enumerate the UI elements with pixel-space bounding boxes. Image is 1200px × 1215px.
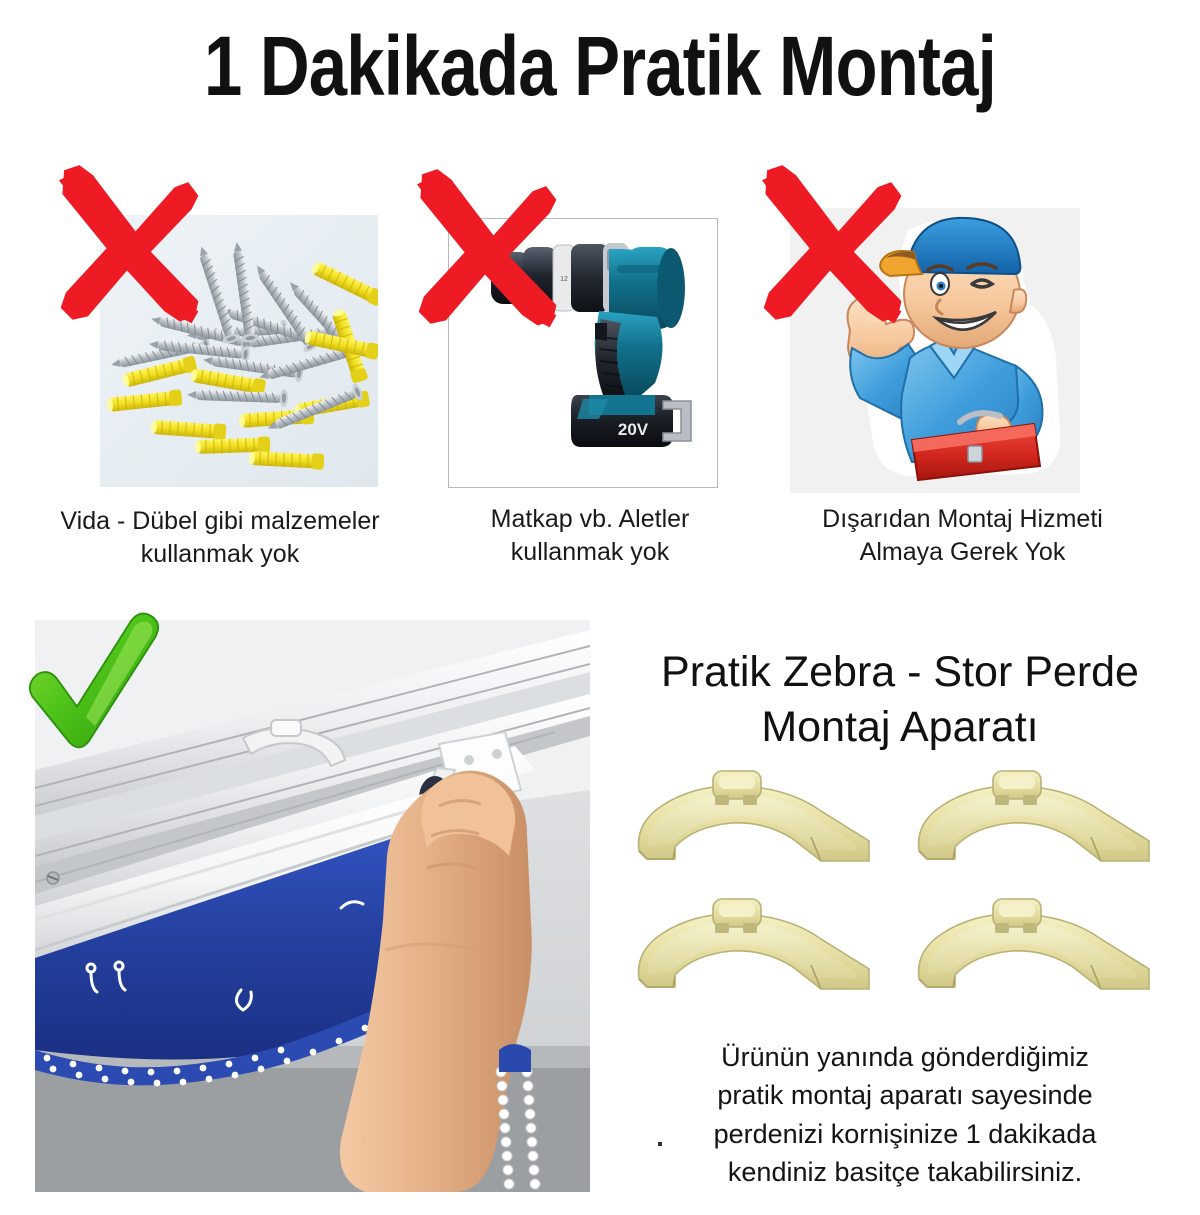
caption-line-1: Vida - Dübel gibi malzemeler <box>20 505 420 538</box>
prohibited-item-drill: 12 <box>420 160 760 590</box>
green-check-icon <box>20 612 170 762</box>
battery-voltage-label: 20V <box>618 420 649 439</box>
drill-illustration: 12 <box>449 219 717 487</box>
mounting-clip-1 <box>625 765 890 875</box>
heading-line-1: Pratik Zebra - Stor Perde <box>600 645 1200 700</box>
prohibited-item-screws: Vida - Dübel gibi malzemeler kullanmak y… <box>20 160 420 590</box>
stray-dot-artifact <box>658 1142 662 1146</box>
mounting-clips-grid <box>615 765 1185 1005</box>
handyman-cartoon-illustration <box>790 208 1080 493</box>
prohibited-item-handyman: Dışarıdan Montaj Hizmeti Almaya Gerek Yo… <box>745 160 1180 590</box>
caption-line-2: Almaya Gerek Yok <box>745 536 1180 569</box>
product-heading: Pratik Zebra - Stor Perde Montaj Aparatı <box>600 645 1200 755</box>
caption-line-2: kullanmak yok <box>20 538 420 571</box>
description-line-1: Ürünün yanında gönderdiğimiz <box>640 1038 1170 1076</box>
prohibited-items-row: Vida - Dübel gibi malzemeler kullanmak y… <box>0 160 1200 590</box>
beige-plastic-mounting-clip <box>625 893 890 1003</box>
description-line-3: perdenizi kornişinize 1 dakikada <box>640 1115 1170 1153</box>
mounting-clip-4 <box>905 893 1170 1003</box>
cordless-drill-photo: 12 <box>448 218 718 488</box>
beige-plastic-mounting-clip <box>625 765 890 875</box>
caption-screws: Vida - Dübel gibi malzemeler kullanmak y… <box>20 505 420 572</box>
screws-illustration <box>100 215 378 487</box>
green-check-mark <box>20 612 170 762</box>
page-title: 1 Dakikada Pratik Montaj <box>108 24 1092 108</box>
heading-line-2: Montaj Aparatı <box>600 700 1200 755</box>
description-line-2: pratik montaj aparatı sayesinde <box>640 1076 1170 1114</box>
screws-and-wall-plugs-photo <box>100 215 378 487</box>
infographic-page: 1 Dakikada Pratik Montaj <box>0 0 1200 1215</box>
description-line-4: kendiniz basitçe takabilirsiniz. <box>640 1153 1170 1191</box>
product-description: Ürünün yanında gönderdiğimiz pratik mont… <box>640 1038 1170 1191</box>
beige-plastic-mounting-clip <box>905 765 1170 875</box>
handyman-illustration <box>790 208 1080 493</box>
beige-plastic-mounting-clip <box>905 893 1170 1003</box>
caption-line-1: Matkap vb. Aletler <box>420 503 760 536</box>
mounting-clip-3 <box>625 893 890 1003</box>
caption-line-1: Dışarıdan Montaj Hizmeti <box>745 503 1180 536</box>
mounting-clip-2 <box>905 765 1170 875</box>
caption-handyman: Dışarıdan Montaj Hizmeti Almaya Gerek Yo… <box>745 503 1180 570</box>
svg-text:12: 12 <box>560 276 568 283</box>
caption-drill: Matkap vb. Aletler kullanmak yok <box>420 503 760 570</box>
caption-line-2: kullanmak yok <box>420 536 760 569</box>
